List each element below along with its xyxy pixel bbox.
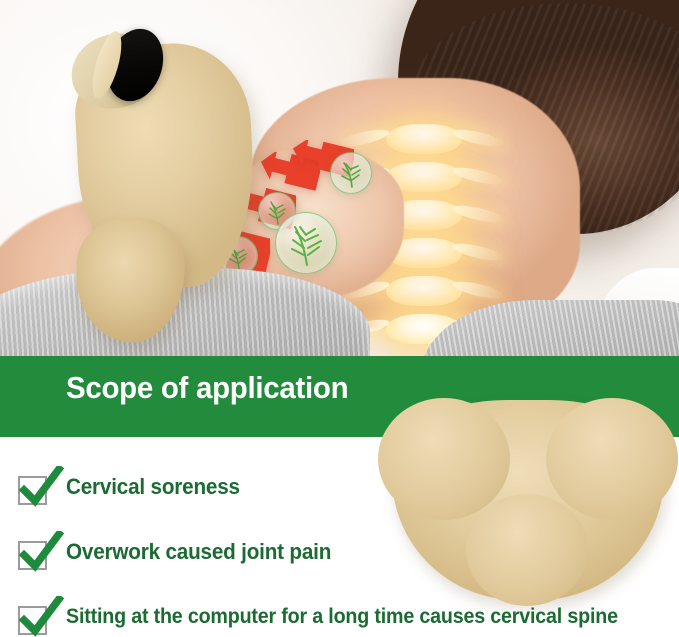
herb-bubble	[275, 212, 337, 274]
checklist-item-label: Sitting at the computer for a long time …	[66, 604, 618, 629]
leaf-icon	[276, 213, 338, 275]
checklist-item[interactable]: Sitting at the computer for a long time …	[0, 592, 679, 637]
check-icon	[18, 466, 64, 510]
vertebra	[386, 276, 462, 306]
checklist-item[interactable]: Overwork caused joint pain	[0, 527, 679, 592]
banner-title: Scope of application	[66, 372, 348, 403]
vertebra	[386, 124, 462, 154]
product-infographic: Scope of application Cervical soreness O…	[0, 0, 679, 637]
checklist-item-label: Cervical soreness	[66, 474, 240, 500]
check-icon	[18, 531, 64, 575]
herb-bubble	[330, 152, 372, 194]
hero-photo	[0, 0, 679, 356]
check-icon	[18, 596, 64, 637]
checklist-item-label: Overwork caused joint pain	[66, 539, 331, 565]
leaf-icon	[331, 153, 373, 195]
checklist-item[interactable]: Cervical soreness	[0, 462, 679, 527]
scope-checklist: Cervical soreness Overwork caused joint …	[0, 462, 679, 637]
